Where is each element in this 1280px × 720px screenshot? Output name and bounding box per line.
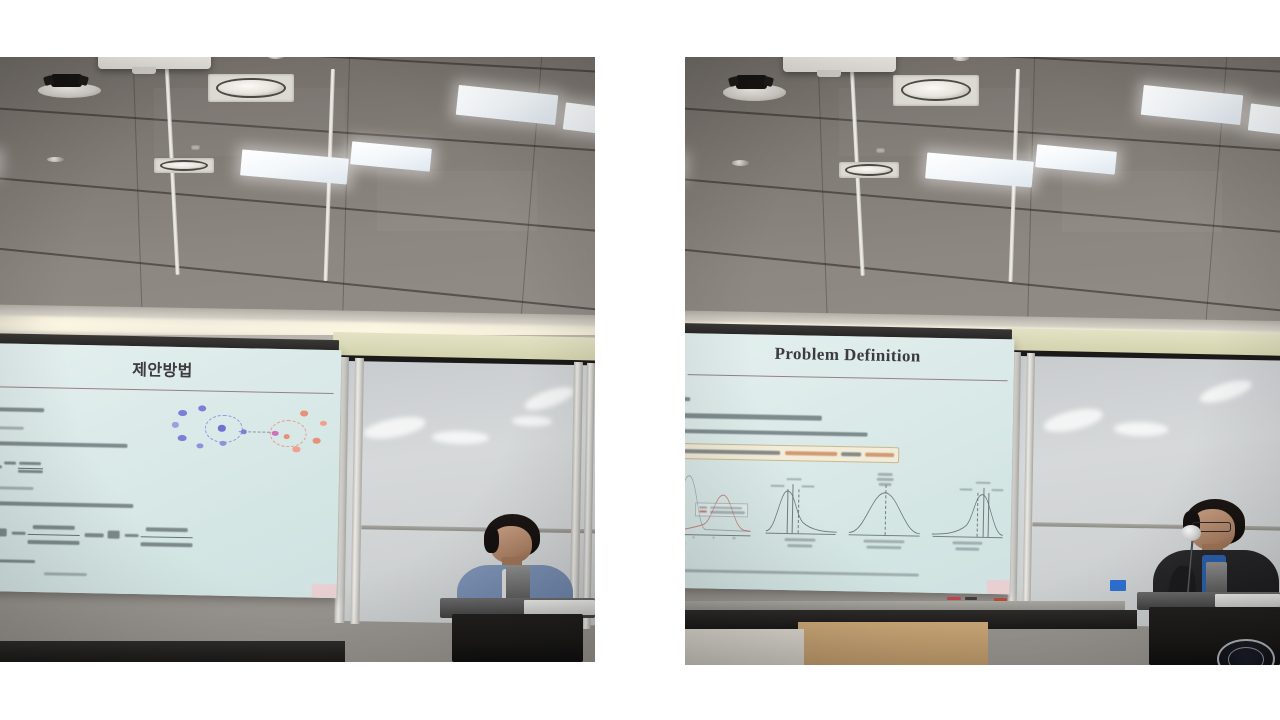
chart-x-axis bbox=[685, 534, 751, 537]
chart-positive-skew bbox=[764, 470, 839, 556]
slide-subheading bbox=[0, 426, 24, 430]
slide-left: 제안방법 bbox=[0, 343, 342, 598]
podium-right bbox=[1149, 607, 1280, 665]
ceiling-recessed-light bbox=[839, 162, 899, 178]
slide-footnote bbox=[44, 572, 87, 575]
marker-mode-label bbox=[879, 483, 892, 486]
slide-equation-3 bbox=[0, 558, 36, 563]
projection-screen-left[interactable]: 제안방법 bbox=[0, 343, 342, 598]
photo-right: Problem Definition bbox=[685, 57, 1280, 665]
panel-label-line2 bbox=[956, 548, 980, 551]
ceiling-projector bbox=[98, 57, 211, 69]
slide-header-rule bbox=[0, 386, 334, 394]
podium-microphone bbox=[506, 565, 530, 601]
podium-papers bbox=[524, 600, 595, 615]
marker-mean-label bbox=[960, 488, 973, 491]
whiteboard-marker bbox=[965, 597, 977, 600]
slide-equation-1 bbox=[0, 457, 98, 479]
chart-symmetrical-distribution bbox=[847, 472, 922, 558]
slide-page-tag bbox=[986, 580, 1010, 594]
whiteboard-marker bbox=[994, 598, 1007, 601]
panel-label-line1 bbox=[953, 541, 982, 544]
chart-negative-skew bbox=[930, 473, 1005, 559]
panel-label-line1 bbox=[785, 538, 816, 541]
projection-screen-right[interactable]: Problem Definition bbox=[685, 333, 1015, 595]
marker-mean-label bbox=[878, 473, 893, 476]
chart-demand-distribution bbox=[685, 468, 752, 554]
slide-subheading bbox=[0, 485, 34, 489]
marker-mode-label bbox=[992, 489, 1004, 492]
slide-equation-2 bbox=[0, 516, 217, 553]
blue-desk-object bbox=[1110, 580, 1125, 591]
ceiling-recessed-light bbox=[208, 74, 295, 103]
ceiling-speaker-mount bbox=[736, 75, 767, 89]
marker-median-label bbox=[976, 482, 991, 485]
marker-mode-label bbox=[771, 484, 784, 487]
slide-title-right: Problem Definition bbox=[685, 342, 1014, 368]
slide-right: Problem Definition bbox=[685, 333, 1015, 595]
podium-left bbox=[452, 614, 583, 662]
screenshot-canvas: 제안방법 bbox=[0, 0, 1280, 720]
marker-mean-label bbox=[802, 485, 815, 488]
panel-label-line2 bbox=[866, 546, 901, 549]
slide-highlight-box bbox=[685, 443, 899, 464]
ceiling-speaker-mount bbox=[51, 74, 82, 87]
whiteboard-marker bbox=[947, 597, 961, 600]
slide-bullet-line bbox=[685, 429, 868, 437]
marker-median-label bbox=[876, 478, 894, 481]
ceiling-vent bbox=[191, 145, 200, 150]
slide-citation bbox=[685, 569, 918, 576]
slide-body-line bbox=[0, 500, 133, 507]
photo-left: 제안방법 bbox=[0, 57, 595, 662]
embedding-space-diagram bbox=[168, 401, 333, 459]
panel-label-line2 bbox=[787, 545, 812, 548]
slide-title-left: 제안방법 bbox=[0, 352, 341, 383]
marker-median-label bbox=[787, 478, 802, 481]
ceiling-sprinkler bbox=[953, 57, 969, 61]
slide-bullet-line bbox=[685, 414, 822, 421]
slide-body-line bbox=[0, 407, 44, 412]
podium-university-seal bbox=[1217, 639, 1275, 665]
podium-microphone bbox=[1206, 562, 1227, 595]
slide-header-rule bbox=[687, 374, 1007, 381]
microphone-head bbox=[1181, 525, 1201, 541]
podium-papers bbox=[1215, 594, 1280, 607]
slide-page-tag bbox=[312, 584, 337, 598]
ceiling-vent bbox=[876, 148, 885, 153]
wooden-desk bbox=[798, 622, 988, 665]
slide-body-line bbox=[0, 441, 127, 448]
slide-bullet-heading bbox=[685, 397, 690, 401]
ceiling-projector bbox=[783, 57, 896, 72]
ceiling-recessed-light bbox=[154, 158, 214, 173]
desk-front-edge bbox=[0, 641, 345, 662]
presenter-hair-side bbox=[484, 527, 500, 553]
ceiling-recessed-light bbox=[893, 75, 980, 105]
floor-strip bbox=[685, 629, 804, 665]
chart-legend bbox=[695, 502, 748, 517]
panel-label-line1 bbox=[864, 539, 905, 543]
